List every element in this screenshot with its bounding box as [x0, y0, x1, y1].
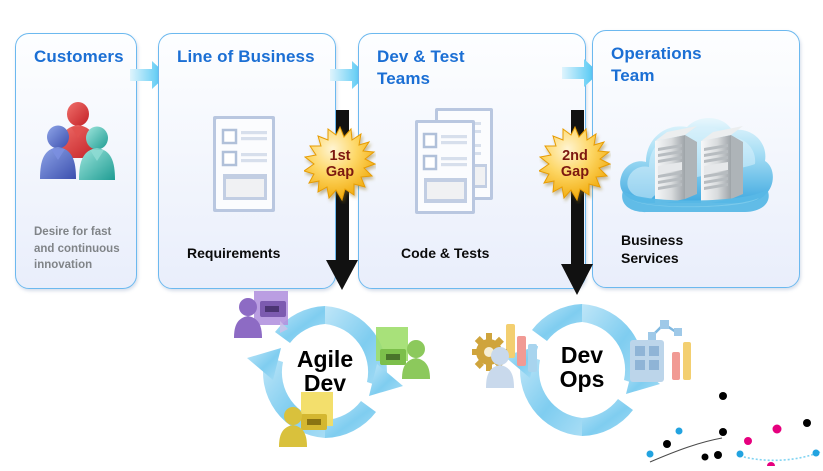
decoration-dot — [744, 437, 752, 445]
panel-operations-team-title: Operations Team — [611, 43, 731, 87]
requirements-document-icon — [209, 112, 281, 218]
agile-dev-line1: Agile — [297, 348, 353, 372]
code-tests-documents-icon — [411, 106, 503, 218]
gap-1-starburst[interactable]: 1st Gap — [304, 126, 376, 204]
decoration-dot — [719, 428, 727, 436]
gap-2-starburst[interactable]: 2nd Gap — [539, 126, 611, 204]
decoration-dot — [737, 451, 744, 458]
decoration-dot-constellation — [630, 380, 823, 466]
panel-customers[interactable]: Customers — [15, 33, 137, 289]
decoration-dot — [702, 454, 709, 461]
green-person-briefcase-icon — [372, 323, 434, 386]
panel-customers-subtext: Desire for fast and continuous innovatio… — [34, 224, 130, 274]
dev-ops-line2: Ops — [560, 368, 605, 392]
decoration-dot — [647, 451, 654, 458]
decoration-dot — [773, 425, 782, 434]
decoration-dot — [676, 428, 683, 435]
decoration-dot — [719, 392, 727, 400]
cloud-servers-icon — [613, 99, 777, 221]
decoration-dot — [714, 451, 722, 459]
decoration-dot — [767, 462, 775, 466]
purple-person-briefcase-icon — [232, 287, 294, 348]
panel-operations-team-caption: Business Services — [621, 231, 741, 267]
decoration-dot — [813, 450, 820, 457]
panel-operations-team[interactable]: Operations Team — [592, 30, 800, 288]
three-people-icon — [38, 96, 118, 196]
gear-person-chart-icon — [472, 318, 544, 399]
panel-line-of-business-caption: Requirements — [187, 244, 280, 262]
panel-dev-test-teams-title: Dev & Test Teams — [377, 46, 497, 90]
diagram-canvas: Customers — [0, 0, 823, 466]
panel-line-of-business-title: Line of Business — [177, 46, 315, 68]
decoration-dot — [803, 419, 811, 427]
dev-ops-line1: Dev — [561, 344, 603, 368]
yellow-person-briefcase-icon — [275, 390, 339, 455]
panel-dev-test-teams-caption: Code & Tests — [401, 244, 489, 262]
panel-customers-title: Customers — [34, 46, 124, 68]
decoration-dot — [663, 440, 671, 448]
